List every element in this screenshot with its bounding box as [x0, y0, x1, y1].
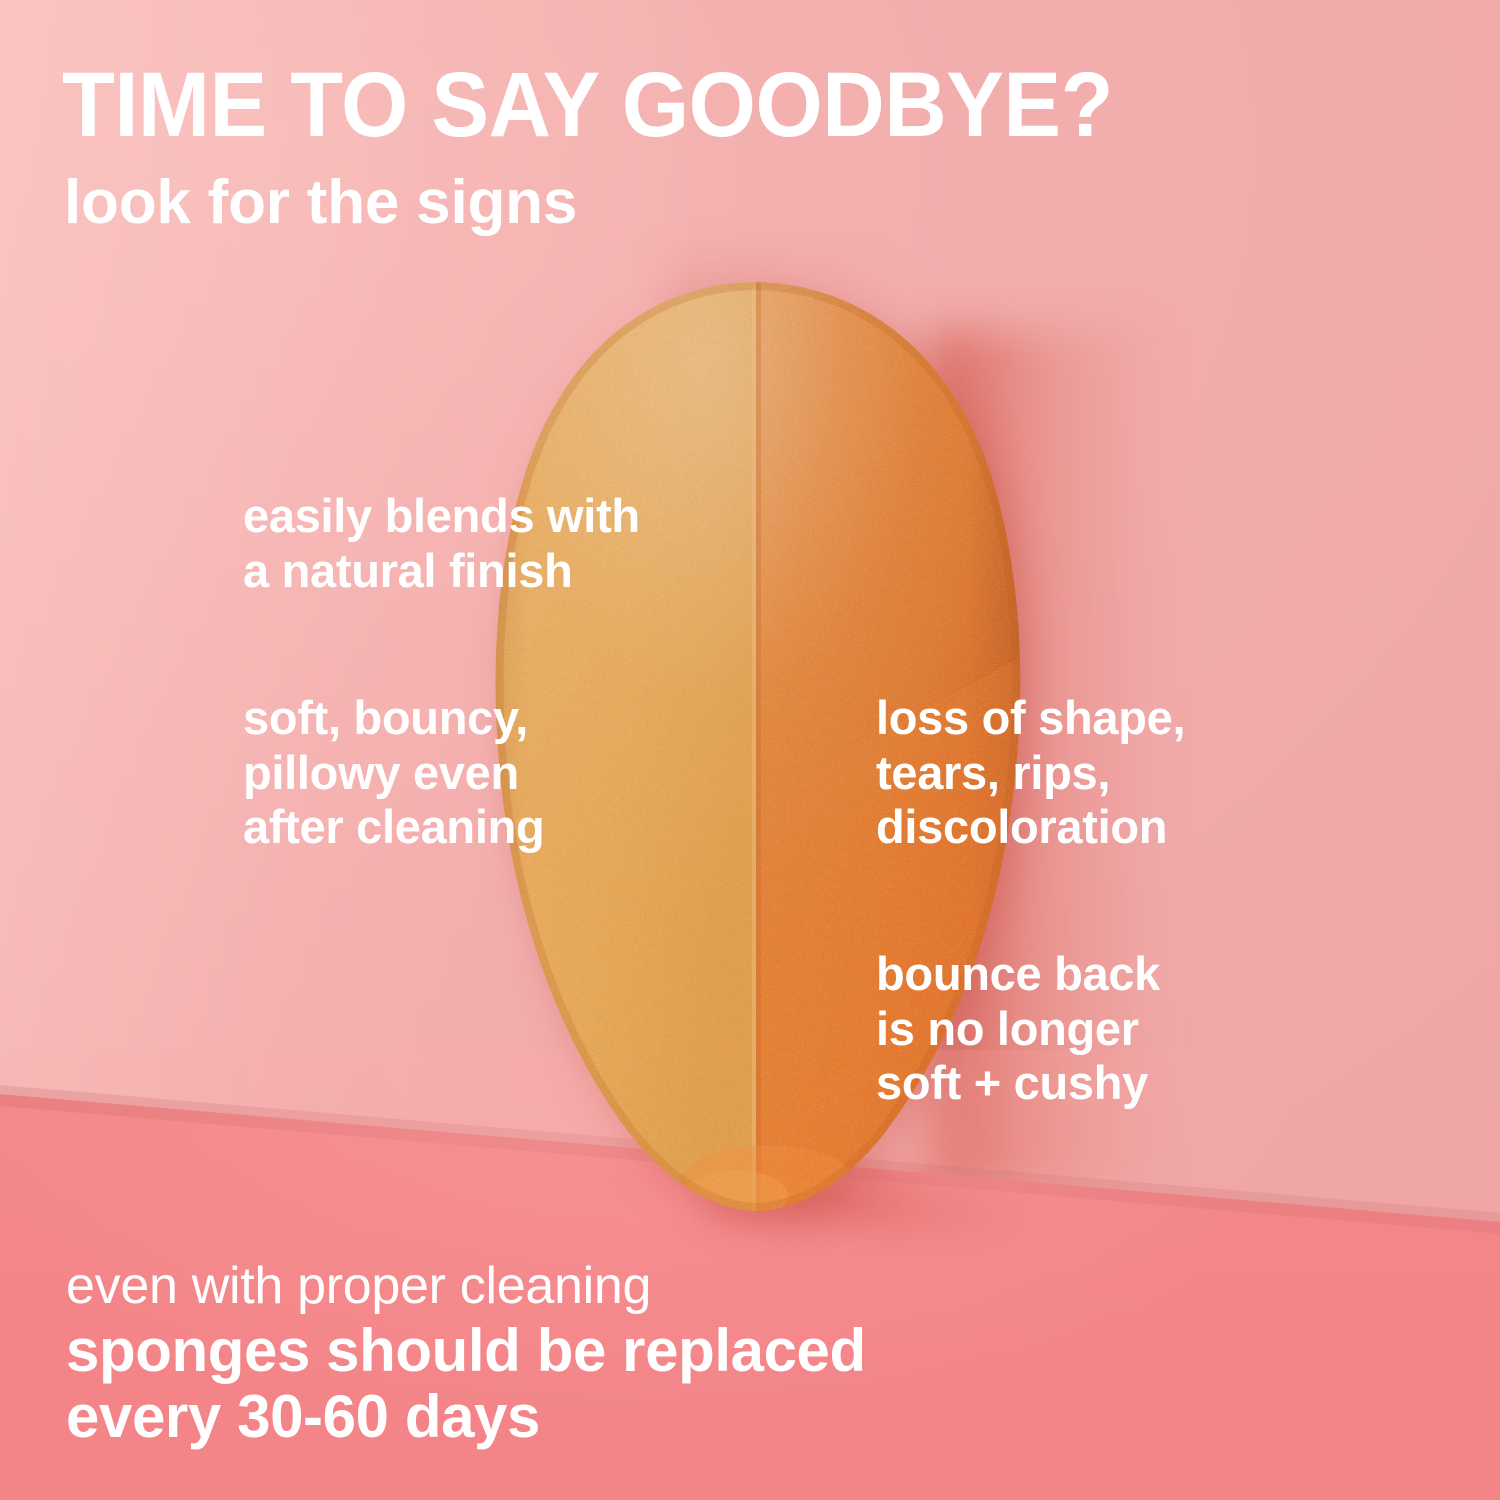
callout-easily-blends: easily blends with a natural finish: [243, 489, 640, 598]
footer-strong-text: sponges should be replaced every 30-60 d…: [66, 1318, 866, 1450]
footer-lead-text: even with proper cleaning: [66, 1258, 866, 1314]
callout-soft-bouncy: soft, bouncy, pillowy even after cleanin…: [243, 691, 544, 855]
page-title: TIME TO SAY GOODBYE?: [62, 62, 1113, 149]
infographic-canvas: TIME TO SAY GOODBYE? look for the signs …: [0, 0, 1500, 1500]
callout-bounce-back: bounce back is no longer soft + cushy: [876, 947, 1160, 1111]
footer-message: even with proper cleaning sponges should…: [66, 1258, 866, 1450]
page-subtitle: look for the signs: [64, 172, 577, 234]
callout-loss-of-shape: loss of shape, tears, rips, discoloratio…: [876, 691, 1185, 855]
